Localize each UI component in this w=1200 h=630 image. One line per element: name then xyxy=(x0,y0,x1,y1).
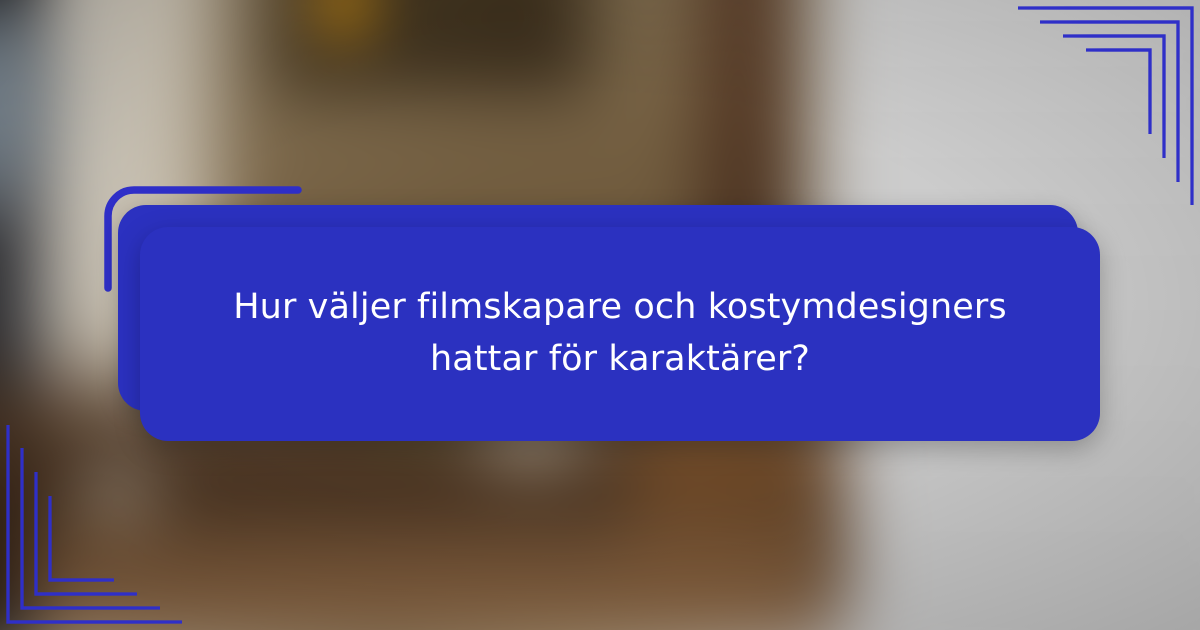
headline-card-front: Hur väljer filmskapare och kostymdesigne… xyxy=(140,227,1100,441)
share-card-canvas: Hur väljer filmskapare och kostymdesigne… xyxy=(0,0,1200,630)
page-title: Hur väljer filmskapare och kostymdesigne… xyxy=(140,282,1100,386)
